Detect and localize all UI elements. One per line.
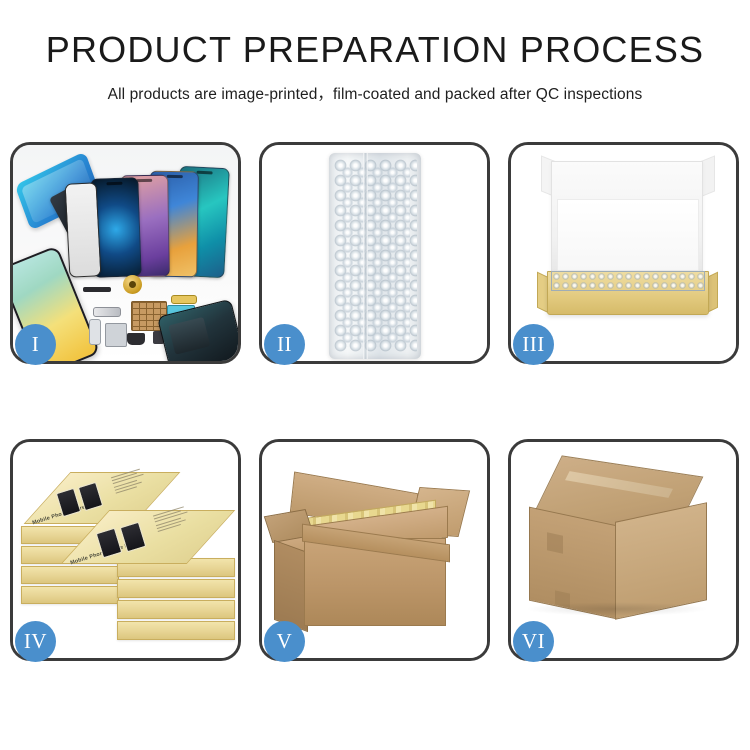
phone-screen-fan [65,159,238,277]
step-panel-6: VI [508,439,739,661]
gold-flex-icon [171,295,197,304]
step-panel-1: I [10,142,241,364]
step-badge-3: III [513,324,554,365]
carton-side-panel [274,540,308,632]
flex-cable-small-icon [89,319,101,345]
retail-box-slab [117,600,235,619]
page-subtitle: All products are image-printed，film-coat… [0,82,750,104]
step-panel-5: V [259,439,490,661]
page-title: PRODUCT PREPARATION PROCESS [0,32,750,68]
speaker-bar-icon [83,287,111,292]
retail-box-slab [21,566,119,584]
step-badge-2: II [264,324,305,365]
step-badge-4: IV [15,621,56,662]
spare-parts-group [71,271,238,361]
carton-shadow [525,602,709,616]
flex-cable-icon [93,307,121,317]
wrap-seam [363,153,368,359]
speaker-module-icon [127,333,145,345]
step-badge-1: I [15,324,56,365]
phone-screen-white-icon [65,182,102,278]
step-badge-6: VI [513,621,554,662]
bubble-layer-back [340,165,410,347]
connector-icon [105,323,127,347]
product-preparation-process-infographic: PRODUCT PREPARATION PROCESS All products… [0,0,750,750]
retail-box-slab [21,586,119,604]
retail-box-stack: Mobile Phone Spare Parts Mobile Phone Sp… [17,454,238,654]
header: PRODUCT PREPARATION PROCESS All products… [0,0,750,104]
carton-corner-tab [547,532,563,553]
bubble-wrap-icon [329,153,421,359]
foam-insert-icon [557,199,699,271]
step-panel-3: III [508,142,739,364]
retail-box-slab [117,579,235,598]
bubble-wrapped-contents-icon [551,271,705,291]
step-panel-4: Mobile Phone Spare Parts Mobile Phone Sp… [10,439,241,661]
process-steps-grid: I II [10,142,742,661]
step-panel-2: II [259,142,490,364]
gold-coil-icon [123,275,142,294]
step-badge-5: V [264,621,305,662]
retail-box-slab [117,621,235,640]
